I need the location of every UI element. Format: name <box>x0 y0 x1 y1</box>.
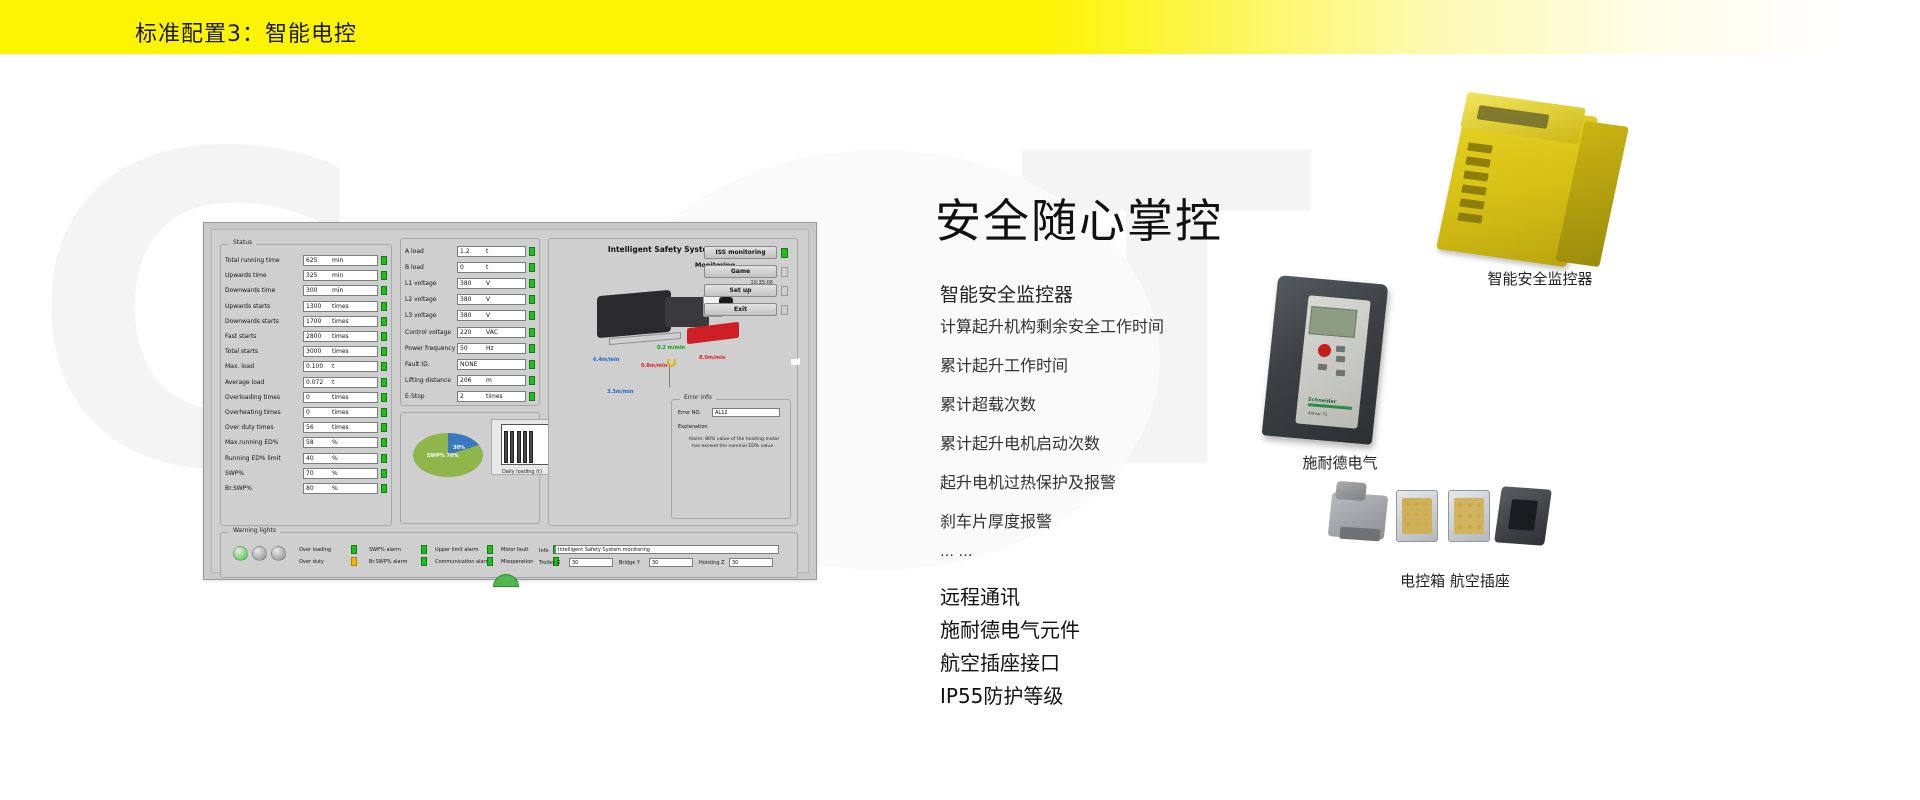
info-label: Info <box>539 548 548 554</box>
load-row: L1 voltage380V <box>401 275 539 291</box>
hmi-button-2[interactable]: Set up <box>704 284 777 297</box>
load-value: 50 <box>460 345 486 352</box>
status-value: 0.100 <box>306 363 332 370</box>
status-label: Max.running ED% <box>225 439 303 446</box>
status-led <box>381 362 387 371</box>
load-field[interactable]: 0t <box>457 262 526 273</box>
explanation-label: Explanation <box>678 424 708 430</box>
warning-item-label-4: Upper limit alarm <box>435 547 479 553</box>
load-led <box>529 263 535 272</box>
connector-hood-base <box>1339 527 1380 542</box>
warning-item-led-5 <box>487 557 493 566</box>
load-field[interactable]: NONE <box>457 359 526 370</box>
status-unit: min <box>332 287 343 294</box>
status-row: SWP%70% <box>221 466 391 481</box>
load-unit: V <box>486 312 490 319</box>
load-led <box>529 360 535 369</box>
status-group-title: Status <box>229 239 256 246</box>
load-value: 0 <box>460 264 486 271</box>
status-led <box>381 438 387 447</box>
status-field[interactable]: 0.100t <box>303 361 378 372</box>
load-field[interactable]: 1.2t <box>457 246 526 257</box>
status-row: Max. load0.100t <box>221 359 391 374</box>
status-unit: t <box>332 363 334 370</box>
status-value: 80 <box>306 485 332 492</box>
load-led <box>529 376 535 385</box>
hmi-button-row: ISS monitoring <box>704 246 788 259</box>
status-value: 325 <box>306 272 332 279</box>
status-label: Upwards starts <box>225 303 303 310</box>
status-row: Overheating times0times <box>221 405 391 420</box>
status-led <box>381 271 387 280</box>
status-label: Downwards starts <box>225 318 303 325</box>
error-info-title: Error info <box>680 394 716 401</box>
hmi-button-row: Exit <box>704 303 788 316</box>
status-row: Overloading times0times <box>221 390 391 405</box>
status-field[interactable]: 3000times <box>303 346 378 357</box>
load-label: Lifting distance <box>405 377 457 384</box>
load-value: NONE <box>460 361 486 368</box>
load-row: Power frequency50Hz <box>401 340 539 356</box>
connector-hood-neck <box>1335 481 1367 501</box>
status-unit: min <box>332 272 343 279</box>
hmi-button-1[interactable]: Game <box>704 265 777 278</box>
hmi-button-led-3 <box>781 305 788 315</box>
status-value: 625 <box>306 257 332 264</box>
status-led <box>381 423 387 432</box>
load-row: Lifting distance206m <box>401 373 539 389</box>
bar-2 <box>517 431 521 463</box>
status-field[interactable]: 2800times <box>303 331 378 342</box>
drive-lcd <box>1309 306 1358 338</box>
speed-label-2: 0.2 m/min <box>657 345 685 351</box>
status-value: 2800 <box>306 333 332 340</box>
hmi-button-row: Set up <box>704 284 788 297</box>
load-row: Fault ID.NONE <box>401 356 539 372</box>
hoist-arrow <box>669 365 670 387</box>
status-led <box>381 378 387 387</box>
product-caption-relay: 智能安全监控器 <box>1487 268 1592 289</box>
warning-item-label-6: Motor fault <box>501 547 528 553</box>
status-field[interactable]: 625min <box>303 255 378 266</box>
load-label: B load <box>405 264 457 271</box>
load-led <box>529 295 535 304</box>
feature-item-3: 累计起升电机启动次数 <box>940 430 1100 454</box>
status-row: Downwards starts1700times <box>221 314 391 329</box>
status-label: Total starts <box>225 348 303 355</box>
product-connectors: 电控箱 航空插座 <box>1330 480 1580 600</box>
status-field[interactable]: 0.072t <box>303 377 378 388</box>
status-value: 3000 <box>306 348 332 355</box>
status-row: Downwards time300min <box>221 283 391 298</box>
status-row: Fast starts2800times <box>221 329 391 344</box>
status-label: Downwards time <box>225 287 303 294</box>
status-unit: times <box>332 424 349 431</box>
hmi-button-3[interactable]: Exit <box>704 303 777 316</box>
feature-item-0: 计算起升机构剩余安全工作时间 <box>940 313 1164 337</box>
status-value: 56 <box>306 424 332 431</box>
status-field[interactable]: 300min <box>303 285 378 296</box>
load-unit: m <box>486 377 492 384</box>
hmi-inner: Status Total running time625minUpwards t… <box>211 229 809 573</box>
status-label: Fast starts <box>225 333 303 340</box>
warning-item-label-1: Over duty <box>299 559 324 565</box>
daily-loading-bars <box>503 426 547 463</box>
status-label: Upwards time <box>225 272 303 279</box>
load-row: Control voltage220VAC <box>401 324 539 340</box>
status-dome-indicator <box>493 574 519 587</box>
load-value: 2 <box>460 393 486 400</box>
status-row: Br.SWP%80% <box>221 481 391 496</box>
status-field[interactable]: 70% <box>303 468 378 479</box>
status-led <box>381 317 387 326</box>
connector-insert-a-pins <box>1402 498 1432 534</box>
load-led <box>529 279 535 288</box>
load-value: 206 <box>460 377 486 384</box>
load-label: L1 voltage <box>405 280 457 287</box>
warning-field-label-2: Hoisting Z <box>699 560 725 566</box>
load-label: L3 voltage <box>405 312 457 319</box>
load-field[interactable]: 220VAC <box>457 327 526 338</box>
status-row: Total starts3000times <box>221 344 391 359</box>
status-field[interactable]: 1300times <box>303 301 378 312</box>
load-unit: V <box>486 296 490 303</box>
load-unit: t <box>486 264 488 271</box>
hmi-button-led-2 <box>781 286 788 296</box>
status-field[interactable]: 325min <box>303 270 378 281</box>
status-row: Running ED% limit40% <box>221 450 391 465</box>
feature-big-0: 远程通讯 <box>940 581 1020 610</box>
load-label: E-Stop <box>405 393 457 400</box>
status-label: Running ED% limit <box>225 455 303 462</box>
hmi-button-column: ISS monitoringGameSet upExit <box>704 246 788 322</box>
bar-3 <box>523 431 527 463</box>
error-no-label: Error NO. <box>678 410 701 416</box>
speed-label-5: 3.3m/min <box>607 389 633 395</box>
status-unit: min <box>332 257 343 264</box>
pie-label-30: 30% <box>453 445 465 451</box>
feature-item-6: … … <box>940 544 972 560</box>
load-led <box>529 392 535 401</box>
feature-item-5: 刹车片厚度报警 <box>940 508 1052 532</box>
warning-item-led-2 <box>421 545 427 554</box>
load-led <box>529 328 535 337</box>
status-label: Overloading times <box>225 394 303 401</box>
warning-lamp-2 <box>271 546 286 561</box>
info-value[interactable]: Intelligent Safety System monitoring <box>555 545 779 554</box>
status-value: 0.072 <box>306 379 332 386</box>
connector-insert-b-pins <box>1454 498 1484 534</box>
status-label: SWP% <box>225 470 303 477</box>
load-group: A load1.2tB load0tL1 voltage380VL2 volta… <box>400 238 540 406</box>
warning-item-label-3: Br.SWP% alarm <box>369 559 407 565</box>
page-title: 标准配置3：智能电控 <box>135 16 357 48</box>
status-group: Status Total running time625minUpwards t… <box>220 244 392 526</box>
load-row: L3 voltage380V <box>401 308 539 324</box>
hoist-body <box>597 290 671 338</box>
feature-item-1: 累计起升工作时间 <box>940 352 1068 376</box>
load-unit: VAC <box>486 329 498 336</box>
error-info-panel: Error info Error NO. AL12 Explanation Al… <box>671 399 791 519</box>
load-value: 380 <box>460 312 486 319</box>
load-label: Fault ID. <box>405 361 457 368</box>
load-label: L2 voltage <box>405 296 457 303</box>
load-unit: Hz <box>486 345 494 352</box>
load-field[interactable]: 380V <box>457 310 526 321</box>
load-field[interactable]: 206m <box>457 375 526 386</box>
load-unit: t <box>486 248 488 255</box>
status-field[interactable]: 0times <box>303 392 378 403</box>
product-caption-connectors: 电控箱 航空插座 <box>1400 570 1510 591</box>
charts-group: 30% SWP% 70% Daily loading (t) Daily ene… <box>400 412 540 524</box>
pie-chart: 30% SWP% 70% <box>413 427 483 483</box>
warning-item-label-7: Misoperation <box>501 559 533 565</box>
load-row: A load1.2t <box>401 243 539 259</box>
connector-hood-black-cavity <box>1508 499 1538 531</box>
load-value: 380 <box>460 280 486 287</box>
warning-lamp-0 <box>233 546 248 561</box>
load-label: Control voltage <box>405 329 457 336</box>
product-safety-relay: 智能安全监控器 <box>1430 100 1650 300</box>
bar-1 <box>510 431 514 463</box>
speed-label-3: 0.8m/min <box>641 363 667 369</box>
status-rows: Total running time625minUpwards time325m… <box>221 253 391 496</box>
status-unit: % <box>332 439 338 446</box>
status-value: 58 <box>306 439 332 446</box>
status-unit: % <box>332 470 338 477</box>
status-value: 0 <box>306 394 332 401</box>
status-row: Total running time625min <box>221 253 391 268</box>
load-label: A load <box>405 248 457 255</box>
status-value: 1700 <box>306 318 332 325</box>
status-row: Upwards time325min <box>221 268 391 283</box>
warning-item-led-3 <box>421 557 427 566</box>
headline: 安全随心掌控 <box>935 185 1223 251</box>
status-label: Br.SWP% <box>225 485 303 492</box>
status-value: 0 <box>306 409 332 416</box>
status-value: 70 <box>306 470 332 477</box>
status-value: 1300 <box>306 303 332 310</box>
status-led <box>381 332 387 341</box>
explanation-text: Alarm: 80% value of the hoisting motor h… <box>688 436 780 450</box>
feature-big-1: 施耐德电气元件 <box>940 614 1080 643</box>
status-unit: t <box>332 379 334 386</box>
status-led <box>381 469 387 478</box>
daily-loading-chart: Daily loading (t) <box>491 419 553 475</box>
top-banner: 标准配置3：智能电控 <box>0 0 1920 54</box>
status-field[interactable]: 80% <box>303 483 378 494</box>
load-row: L2 voltage380V <box>401 292 539 308</box>
status-led <box>381 302 387 311</box>
warning-lights-title: Warning lights <box>229 527 280 534</box>
load-field[interactable]: 380V <box>457 294 526 305</box>
load-led <box>529 311 535 320</box>
pie-label-swp: SWP% 70% <box>427 453 459 459</box>
load-row: B load0t <box>401 259 539 275</box>
status-unit: times <box>332 409 349 416</box>
warning-field-value-1[interactable]: 30 <box>649 558 693 567</box>
warning-field-label-0: Trolley X <box>539 560 560 566</box>
warning-field-value-0[interactable]: 30 <box>569 558 613 567</box>
status-led <box>381 454 387 463</box>
warning-item-label-2: SWP% alarm <box>369 547 401 553</box>
product-caption-drive: 施耐德电气 <box>1302 452 1377 473</box>
hmi-button-row: Game <box>704 265 788 278</box>
hmi-button-led-1 <box>781 267 788 277</box>
load-unit: times <box>486 393 503 400</box>
load-label: Power frequency <box>405 345 457 352</box>
status-label: Max. load <box>225 363 303 370</box>
warning-item-led-0 <box>351 545 357 554</box>
feature-big-2: 航空插座接口 <box>940 647 1060 676</box>
bar-0 <box>504 431 508 463</box>
product-vfd-drive: Schneider Altivar 71 施耐德电气 <box>1240 270 1440 490</box>
warning-field-label-1: Bridge Y <box>619 560 640 566</box>
hook-icon <box>667 357 676 367</box>
status-label: Over duty times <box>225 424 303 431</box>
bar-4 <box>529 431 533 463</box>
status-field[interactable]: 0times <box>303 407 378 418</box>
status-unit: times <box>332 333 349 340</box>
status-value: 300 <box>306 287 332 294</box>
load-field[interactable]: 2times <box>457 391 526 402</box>
status-led <box>381 393 387 402</box>
warning-field-value-2[interactable]: 30 <box>729 558 773 567</box>
feature-item-4: 起升电机过热保护及报警 <box>940 469 1116 493</box>
load-led <box>529 247 535 256</box>
load-row: E-Stop2times <box>401 389 539 405</box>
status-unit: times <box>332 348 349 355</box>
feature-big-3: IP55防护等级 <box>940 680 1063 709</box>
warning-lamp-1 <box>252 546 267 561</box>
feature-item-2: 累计超载次数 <box>940 391 1036 415</box>
speed-label-1: 6.4m/min <box>593 357 619 363</box>
daily-loading-caption: Daily loading (t) <box>492 469 552 475</box>
status-led <box>381 256 387 265</box>
load-value: 220 <box>460 329 486 336</box>
error-no-value[interactable]: AL12 <box>712 408 780 417</box>
status-unit: % <box>332 485 338 492</box>
warning-item-label-5: Communication alarm <box>435 559 490 565</box>
status-label: Total running time <box>225 257 303 264</box>
status-field[interactable]: 56times <box>303 422 378 433</box>
load-value: 1.2 <box>460 248 486 255</box>
status-led <box>381 408 387 417</box>
status-field[interactable]: 58% <box>303 437 378 448</box>
load-rows: A load1.2tB load0tL1 voltage380VL2 volta… <box>401 243 539 405</box>
warning-lights-group: Warning lights Over loadingOver dutySWP%… <box>220 532 798 578</box>
status-field[interactable]: 40% <box>303 453 378 464</box>
hmi-button-led-0 <box>781 248 788 258</box>
status-row: Max.running ED%58% <box>221 435 391 450</box>
hmi-screenshot-panel: Status Total running time625minUpwards t… <box>203 222 817 580</box>
load-field[interactable]: 50Hz <box>457 343 526 354</box>
status-row: Over duty times56times <box>221 420 391 435</box>
load-value: 380 <box>460 296 486 303</box>
load-led <box>529 344 535 353</box>
status-row: Upwards starts1300times <box>221 299 391 314</box>
status-label: Average load <box>225 379 303 386</box>
load-unit: V <box>486 280 490 287</box>
warning-item-led-1 <box>351 557 357 566</box>
speed-label-4: 8.0m/min <box>699 355 725 361</box>
hmi-button-0[interactable]: ISS monitoring <box>704 246 777 259</box>
status-value: 40 <box>306 455 332 462</box>
status-unit: times <box>332 318 349 325</box>
status-unit: times <box>332 394 349 401</box>
status-unit: times <box>332 303 349 310</box>
status-field[interactable]: 1700times <box>303 316 378 327</box>
status-led <box>381 484 387 493</box>
status-unit: % <box>332 455 338 462</box>
status-row: Average load0.072t <box>221 375 391 390</box>
feature-main: 智能安全监控器 <box>940 280 1073 307</box>
warning-item-led-4 <box>487 545 493 554</box>
status-label: Overheating times <box>225 409 303 416</box>
warning-item-label-0: Over loading <box>299 547 331 553</box>
status-led <box>381 286 387 295</box>
load-field[interactable]: 380V <box>457 278 526 289</box>
status-led <box>381 347 387 356</box>
daily-loading-plot <box>501 424 549 465</box>
